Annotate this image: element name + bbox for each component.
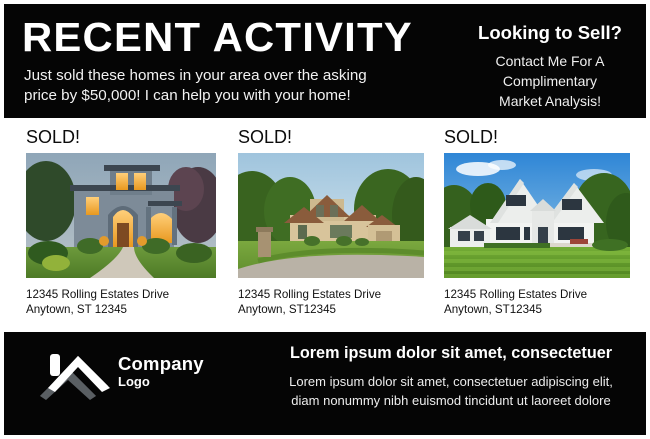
looking-to-sell-body: Contact Me For A Complimentary Market An… [464, 51, 636, 111]
footer-body: Lorem ipsum dolor sit amet, consectetuer… [262, 372, 640, 410]
footer-body-line-1: Lorem ipsum dolor sit amet, consectetuer… [262, 372, 640, 391]
footer-copy: Lorem ipsum dolor sit amet, consectetuer… [262, 344, 640, 410]
company-name: Company [118, 354, 204, 373]
property-photo [238, 153, 424, 278]
listing-address: 12345 Rolling Estates Drive Anytown, ST1… [444, 278, 630, 317]
address-line-1: 12345 Rolling Estates Drive [444, 288, 630, 303]
postcard: RECENT ACTIVITY Just sold these homes in… [0, 0, 650, 439]
listing-card: SOLD! [26, 118, 216, 317]
looking-to-sell-title: Looking to Sell? [464, 22, 636, 43]
status-badge: SOLD! [26, 118, 216, 146]
status-badge: SOLD! [238, 118, 424, 146]
header-banner: RECENT ACTIVITY Just sold these homes in… [4, 4, 646, 118]
sell-line-2: Complimentary [464, 71, 636, 91]
roof-chevron-logo-icon [34, 346, 116, 400]
listing-card: SOLD! [238, 118, 424, 317]
property-photo [444, 153, 630, 278]
listing-card: SOLD! [444, 118, 630, 317]
address-line-2: Anytown, ST12345 [444, 303, 630, 318]
status-badge: SOLD! [444, 118, 630, 146]
subhead-line-2: price by $50,000! I can help you with yo… [24, 86, 394, 106]
address-line-2: Anytown, ST12345 [238, 303, 424, 318]
company-logo: Company Logo [34, 346, 229, 404]
postcard-inner: RECENT ACTIVITY Just sold these homes in… [4, 4, 646, 435]
listings-band: SOLD! [4, 118, 646, 332]
footer-headline: Lorem ipsum dolor sit amet, consectetuer [262, 344, 640, 363]
listing-address: 12345 Rolling Estates Drive Anytown, ST1… [238, 278, 424, 317]
address-line-1: 12345 Rolling Estates Drive [26, 288, 216, 303]
footer-banner: Company Logo Lorem ipsum dolor sit amet,… [4, 332, 646, 435]
sell-line-1: Contact Me For A [464, 51, 636, 71]
looking-to-sell-block: Looking to Sell? Contact Me For A Compli… [464, 22, 636, 111]
listing-address: 12345 Rolling Estates Drive Anytown, ST … [26, 278, 216, 317]
footer-body-line-2: diam nonummy nibh euismod tincidunt ut l… [262, 391, 640, 410]
company-logo-text: Company Logo [118, 354, 204, 390]
company-logo-sublabel: Logo [118, 375, 204, 390]
address-line-1: 12345 Rolling Estates Drive [238, 288, 424, 303]
address-line-2: Anytown, ST 12345 [26, 303, 216, 318]
subhead-line-1: Just sold these homes in your area over … [24, 66, 394, 86]
header-subhead: Just sold these homes in your area over … [24, 66, 394, 106]
page-title: RECENT ACTIVITY [22, 17, 413, 58]
property-photo [26, 153, 216, 278]
sell-line-3: Market Analysis! [464, 91, 636, 111]
